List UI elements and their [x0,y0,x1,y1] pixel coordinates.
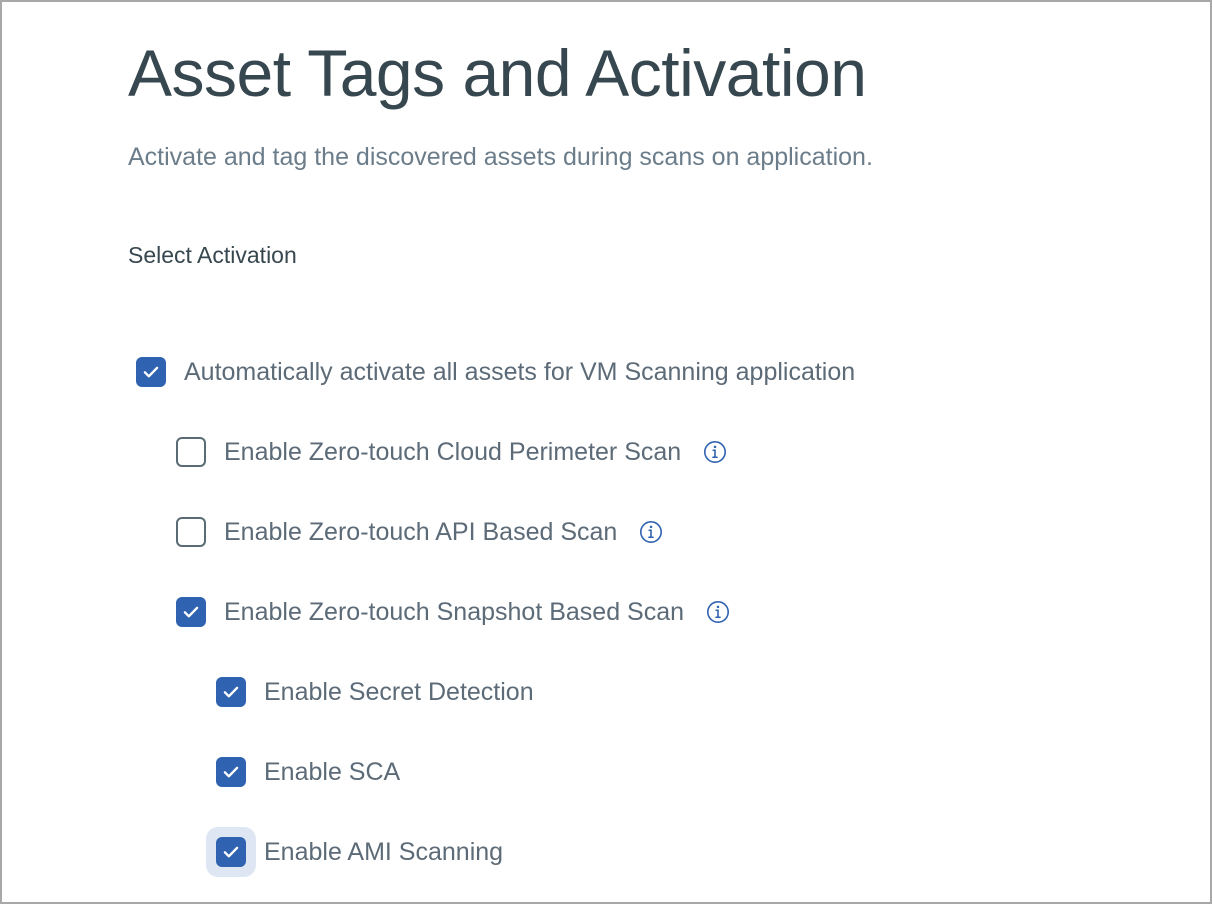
activation-option-row[interactable]: Enable Zero-touch API Based Scan [128,507,1188,557]
activation-option-label: Enable Zero-touch Cloud Perimeter Scan [224,440,681,465]
activation-option-row[interactable]: Enable Zero-touch Snapshot Based Scan [128,587,1188,637]
checkbox-wrapper[interactable] [216,837,246,867]
checkbox-wrapper[interactable] [176,437,206,467]
page-subtitle: Activate and tag the discovered assets d… [128,142,873,172]
checkbox-wrapper[interactable] [216,757,246,787]
checkbox-wrapper[interactable] [216,677,246,707]
checkbox-checked-icon[interactable] [216,837,246,867]
info-icon[interactable] [703,440,727,464]
checkbox-checked-icon[interactable] [216,677,246,707]
activation-option-row[interactable]: Automatically activate all assets for VM… [128,347,1188,397]
page-frame: Asset Tags and Activation Activate and t… [0,0,1212,904]
checkbox-unchecked-icon[interactable] [176,437,206,467]
info-icon[interactable] [706,600,730,624]
checkbox-checked-icon[interactable] [136,357,166,387]
activation-option-label: Automatically activate all assets for VM… [184,360,855,385]
activation-option-row[interactable]: Enable SCA [128,747,1188,797]
activation-option-row[interactable]: Enable Zero-touch Cloud Perimeter Scan [128,427,1188,477]
activation-option-row[interactable]: Enable Secret Detection [128,667,1188,717]
checkbox-wrapper[interactable] [136,357,166,387]
page-title: Asset Tags and Activation [128,40,866,106]
checkbox-wrapper[interactable] [176,597,206,627]
activation-options-list: Automatically activate all assets for VM… [128,347,1188,877]
checkbox-unchecked-icon[interactable] [176,517,206,547]
checkbox-checked-icon[interactable] [176,597,206,627]
checkbox-checked-icon[interactable] [216,757,246,787]
checkbox-wrapper[interactable] [176,517,206,547]
activation-option-row[interactable]: Enable AMI Scanning [128,827,1188,877]
activation-option-label: Enable Zero-touch Snapshot Based Scan [224,600,684,625]
info-icon[interactable] [639,520,663,544]
activation-option-label: Enable Zero-touch API Based Scan [224,520,617,545]
select-activation-label: Select Activation [128,242,297,269]
activation-option-label: Enable AMI Scanning [264,840,503,865]
activation-option-label: Enable Secret Detection [264,680,534,705]
activation-option-label: Enable SCA [264,760,400,785]
